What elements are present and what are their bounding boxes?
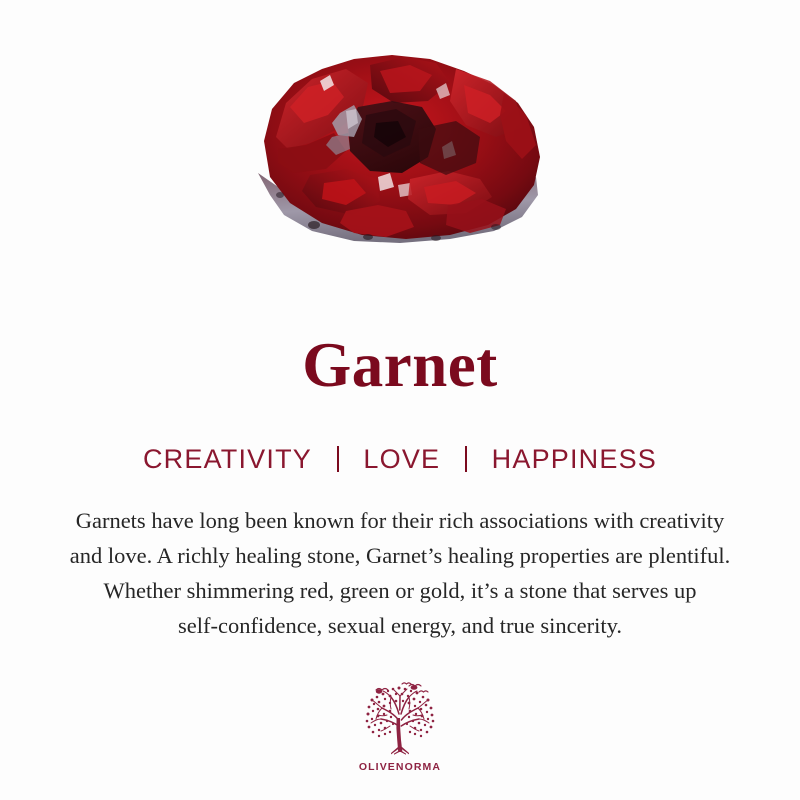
garnet-stone-image	[0, 0, 800, 300]
brand-wordmark: OLIVENORMA	[359, 761, 441, 773]
brand-logo: OLIVENORMA	[0, 680, 800, 773]
keyword-row: CREATIVITY LOVE HAPPINESS	[0, 444, 800, 475]
description-line-4: self-confidence, sexual energy, and true…	[0, 608, 800, 643]
keyword-love: LOVE	[363, 444, 440, 475]
description-line-3: Whether shimmering red, green or gold, i…	[0, 573, 800, 608]
garnet-crystal-illustration	[250, 45, 550, 255]
keyword-creativity: CREATIVITY	[143, 444, 312, 475]
gemstone-info-card: Garnet CREATIVITY LOVE HAPPINESS Garnets…	[0, 0, 800, 800]
page-title: Garnet	[0, 334, 800, 397]
description-paragraph: Garnets have long been known for their r…	[0, 503, 800, 643]
tree-of-life-icon	[357, 680, 443, 760]
keyword-separator-2	[465, 446, 467, 472]
keyword-separator-1	[337, 446, 339, 472]
keyword-happiness: HAPPINESS	[492, 444, 657, 475]
description-line-1: Garnets have long been known for their r…	[0, 503, 800, 538]
description-line-2: and love. A richly healing stone, Garnet…	[0, 538, 800, 573]
